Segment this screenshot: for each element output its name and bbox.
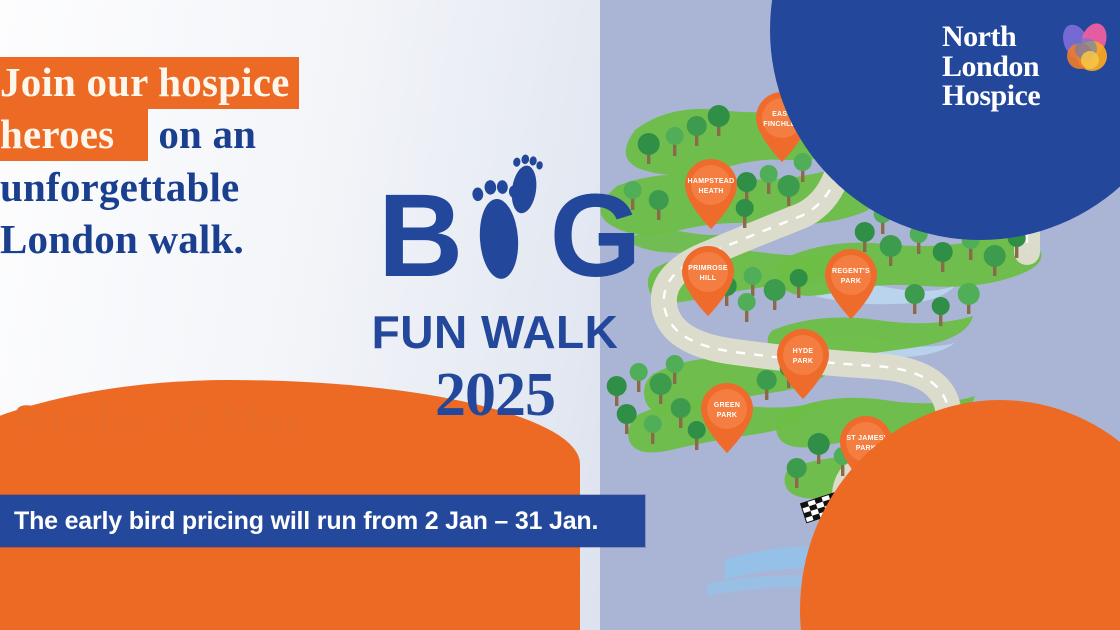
early-bird-banner: The early bird pricing will run from 2 J… xyxy=(0,495,645,547)
pin-label-primrose-hill-1: PRIMROSE xyxy=(688,265,728,272)
map-marker-green-park[interactable]: GREENPARK xyxy=(701,383,753,453)
charity-logo-line-3: Hospice xyxy=(942,81,1112,111)
headline-line-3: unforgettable xyxy=(0,161,430,213)
headline-line-2: heroeson an xyxy=(0,108,430,160)
logo-year-text: 2025 xyxy=(370,360,620,431)
pin-label-hyde-park-1: HYDE xyxy=(793,348,814,355)
pin-label-green-park-1: GREEN xyxy=(714,402,740,409)
pin-inner-circle xyxy=(691,165,731,205)
footprints-icon xyxy=(465,151,555,296)
pin-label-hampstead-heath-2: HEATH xyxy=(698,188,723,195)
headline-line-1: Join our hospice xyxy=(0,56,430,108)
headline: Join our hospice heroeson an unforgettab… xyxy=(0,56,430,266)
flower-petals-icon xyxy=(1052,16,1116,80)
pin-label-primrose-hill-2: HILL xyxy=(700,275,717,282)
pin-inner-circle xyxy=(783,335,823,375)
pin-label-green-park-2: PARK xyxy=(717,412,738,419)
early-bird-text: The early bird pricing will run from 2 J… xyxy=(0,507,598,536)
headline-highlight-1: Join our hospice xyxy=(0,57,299,109)
pin-inner-circle xyxy=(707,389,747,429)
headline-highlight-2: heroes xyxy=(0,109,148,161)
headline-plain-2: on an xyxy=(148,111,256,157)
pin-label-regents-park-2: PARK xyxy=(841,278,862,285)
event-date: Sunday 18 May xyxy=(14,396,305,445)
pin-inner-circle xyxy=(831,255,871,295)
logo-fun-walk-text: FUN WALK xyxy=(370,305,620,359)
logo-big-row: B G xyxy=(370,155,620,295)
pin-label-hyde-park-2: PARK xyxy=(793,358,814,365)
pin-inner-circle xyxy=(688,252,728,292)
big-fun-walk-promo-banner: EASTFINCHLEYHAMPSTEADHEATHPRIMROSEHILLRE… xyxy=(0,0,1120,630)
pin-label-regents-park-1: REGENT'S xyxy=(832,268,870,275)
big-fun-walk-logo: B G FUN WAL xyxy=(370,155,620,455)
headline-line-4: London walk. xyxy=(0,213,430,265)
north-london-hospice-logo: North London Hospice xyxy=(942,22,1112,152)
map-marker-regents-park[interactable]: REGENT'SPARK xyxy=(825,249,877,319)
pin-label-hampstead-heath-1: HAMPSTEAD xyxy=(687,178,734,185)
